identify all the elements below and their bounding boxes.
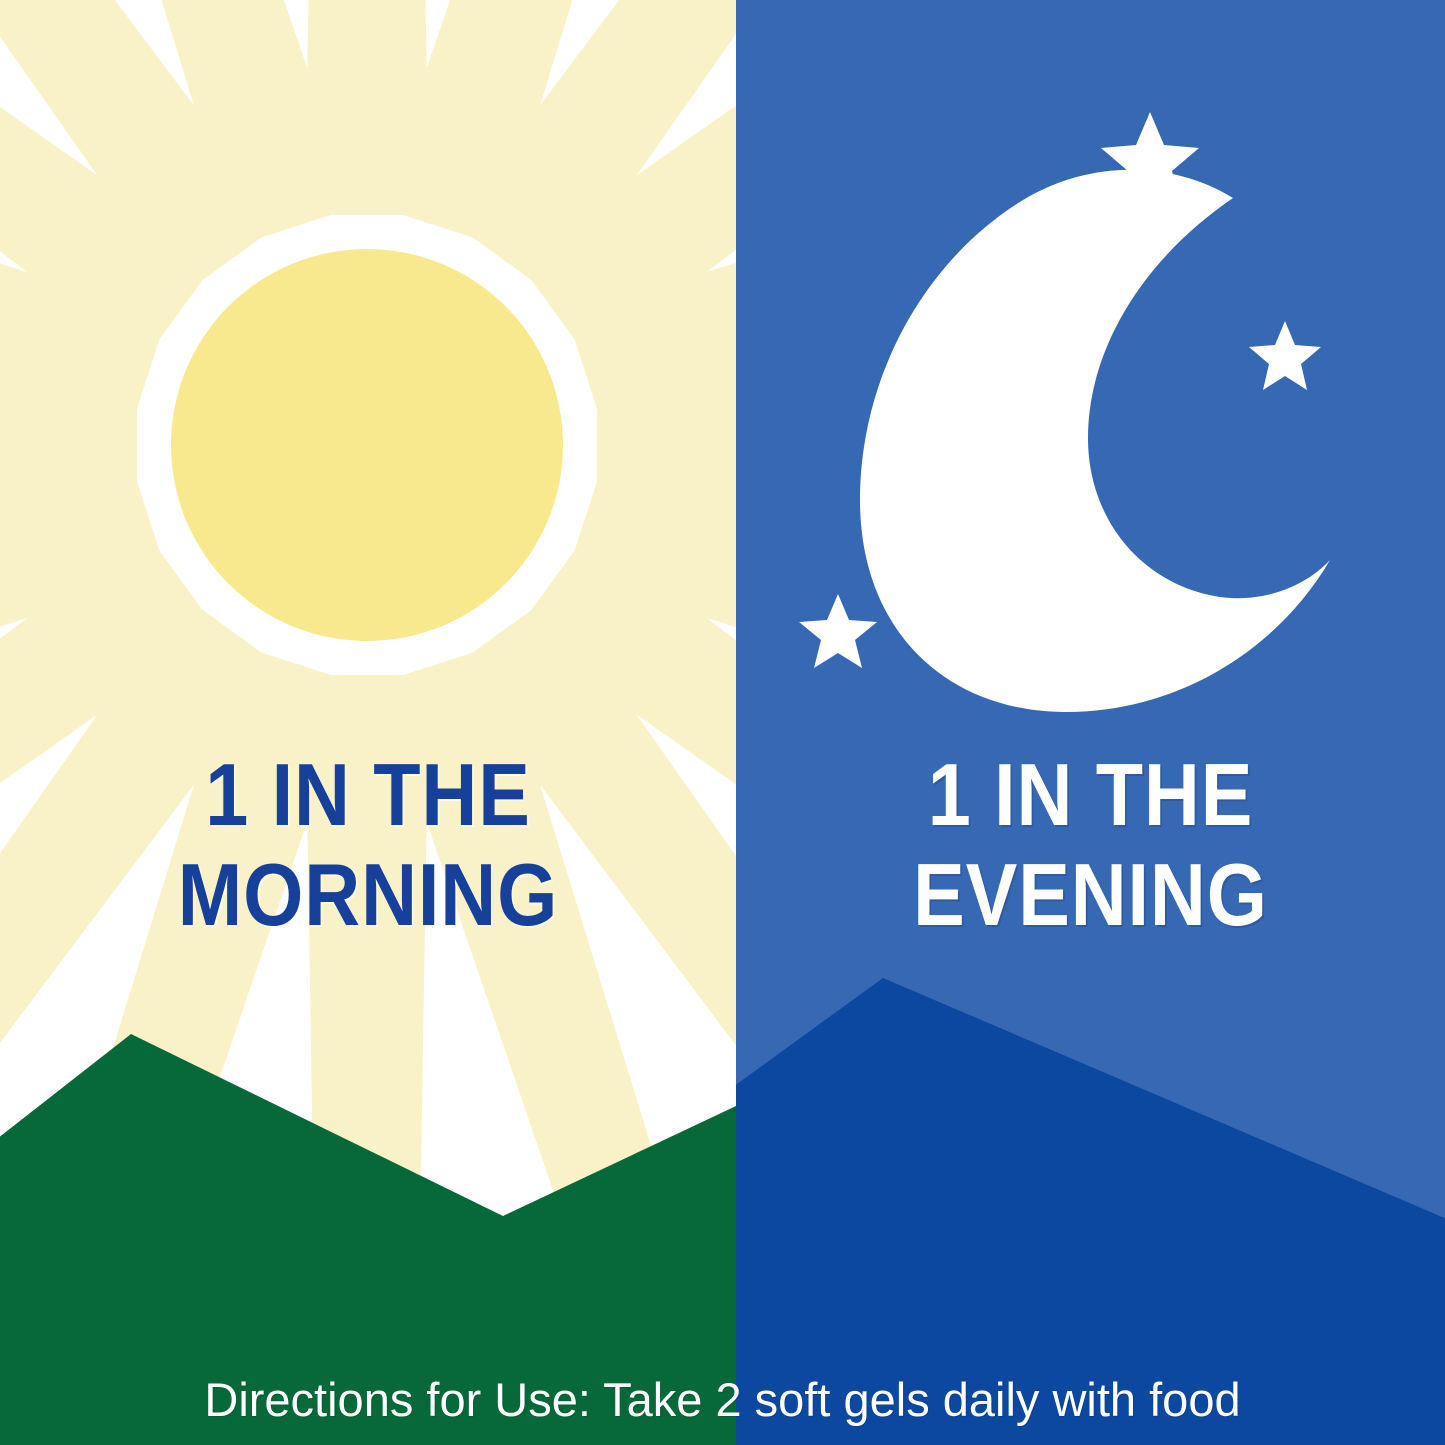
morning-panel: 1 IN THE MORNING — [0, 0, 736, 1445]
morning-panel-art — [0, 0, 736, 1445]
evening-panel-art — [736, 0, 1445, 1445]
directions-for-use-text: Directions for Use: Take 2 soft gels dai… — [204, 1372, 1240, 1428]
evening-panel: 1 IN THE EVENING — [736, 0, 1445, 1445]
morning-headline: 1 IN THE MORNING — [44, 745, 692, 945]
directions-strip: Directions for Use: Take 2 soft gels dai… — [0, 1355, 1445, 1445]
instruction-graphic: 1 IN THE MORNING 1 IN THE EVENING Direct… — [0, 0, 1445, 1445]
evening-headline: 1 IN THE EVENING — [779, 745, 1403, 945]
sun-icon — [171, 249, 563, 641]
